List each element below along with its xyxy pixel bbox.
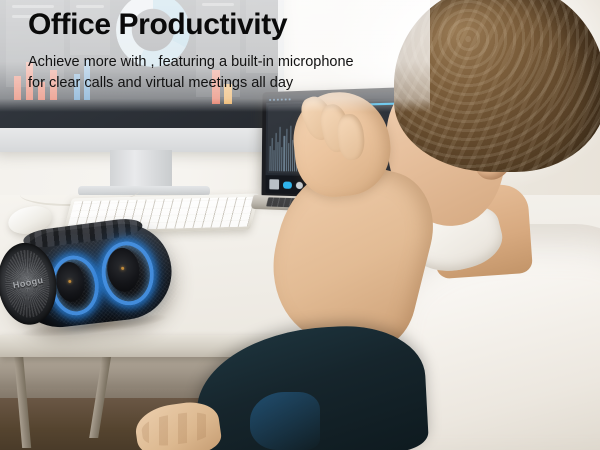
leg-highlight <box>250 392 320 450</box>
bluetooth-speaker: Hoogu <box>0 212 182 343</box>
sidebar-volume-bar <box>290 125 291 171</box>
sidebar-volume-bar <box>284 136 285 171</box>
sidebar-volume-bar <box>286 129 287 171</box>
monitor-bezel <box>0 128 284 152</box>
sidebar-volume-bar <box>288 143 289 171</box>
toolbar-square-button[interactable] <box>269 179 279 189</box>
page-subtitle: Achieve more with , featuring a built-in… <box>28 52 354 93</box>
page-title: Office Productivity <box>28 9 287 41</box>
product-lifestyle-banner: Hoogu Office Productivity Achieve more w… <box>0 0 600 450</box>
toolbar-active-button[interactable] <box>283 181 292 188</box>
subtitle-line-1: Achieve more with , featuring a built-in… <box>28 52 354 73</box>
subtitle-line-2: for clear calls and virtual meetings all… <box>28 73 354 94</box>
